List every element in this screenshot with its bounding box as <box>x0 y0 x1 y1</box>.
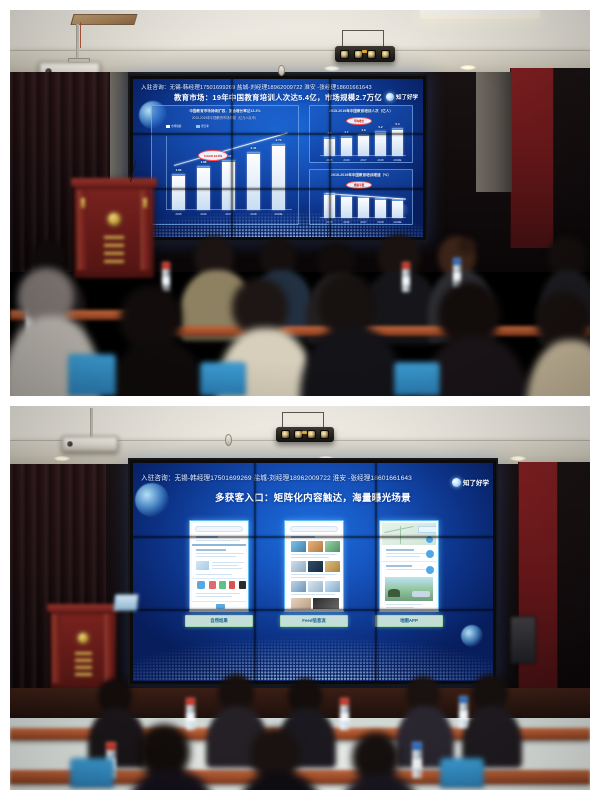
chart-y-axis <box>166 136 167 210</box>
projector-cable <box>80 22 81 48</box>
slide-headline: 多获客入口：矩阵化内容触达，海量曝光场景 <box>133 490 493 504</box>
ceiling-camera-icon <box>225 434 232 446</box>
podium-stripe <box>143 198 147 208</box>
panel-seam-vertical <box>329 79 331 237</box>
projector-lens-icon <box>67 441 73 447</box>
brand-name: 知了好学 <box>463 477 489 487</box>
ceiling-seam <box>10 50 590 51</box>
wall-dark-far-right <box>558 462 590 692</box>
photo-top: 入驻咨询：无锡-韩经理17501699269 盐城-刘经理18962009722… <box>10 10 590 396</box>
light-bar-hanger-top <box>282 412 324 413</box>
podium-stripe <box>75 666 92 669</box>
stage-lamp <box>307 430 316 439</box>
chart-annotation-badge: CAGR 13.3% <box>198 150 228 161</box>
chair <box>68 354 116 396</box>
slide-contact-line: 入驻咨询：无锡-韩经理17501699269 盐城-刘经理18962009722… <box>141 472 412 482</box>
water-bottle <box>340 698 349 730</box>
panel-seam-vertical <box>375 463 377 681</box>
water-bottle <box>412 742 422 778</box>
slide-dot-matrix <box>133 623 493 681</box>
podium-stripe <box>104 260 124 263</box>
video-wall-screen-top: 入驻咨询：无锡-韩经理17501699269 盐城-刘经理18962009722… <box>133 79 423 237</box>
ceiling-camera-icon <box>278 65 285 76</box>
app-icon <box>239 581 246 589</box>
chart-bar-value: 4.9 <box>355 128 372 132</box>
chart-title: 2015-2019年中国教育培训增速（%） <box>310 173 412 178</box>
stage-lamp <box>381 50 390 59</box>
podium-desktop <box>71 178 157 187</box>
screenshot-root: 入驻咨询：无锡-韩经理17501699269 盐城-刘经理18962009722… <box>0 0 600 800</box>
podium-stripe <box>104 244 124 247</box>
podium-stripe <box>104 252 124 255</box>
map-action-icon[interactable] <box>426 566 434 574</box>
projector-pole <box>90 408 93 438</box>
podium-desktop <box>47 604 118 612</box>
podium-emblem-icon <box>107 212 121 226</box>
app-icon <box>219 581 226 589</box>
podium-stripe <box>75 673 92 676</box>
chart-x-tick: 2016 <box>338 158 355 162</box>
podium-stripe <box>81 198 85 208</box>
chart-plot-area: 1.60 1.86 2.12 2.41 2.70 2015 2016 2017 … <box>166 136 292 210</box>
podium-stripe <box>75 659 92 662</box>
chart-bar-value: 1.60 <box>169 168 188 172</box>
chart-x-tick: 2018 <box>372 158 389 162</box>
video-wall-screen-bottom: 入驻咨询：无锡-韩经理17501699269 盐城-刘经理18962009722… <box>133 463 493 681</box>
downlight <box>54 456 70 461</box>
light-bar-hanger <box>323 412 324 428</box>
speaker-cabinet <box>510 616 536 664</box>
chart-bar-value: 2.41 <box>244 146 263 150</box>
brand-dot-icon <box>452 478 461 487</box>
app-icon <box>229 581 235 589</box>
chair <box>440 758 484 788</box>
podium-stripe <box>104 236 124 239</box>
water-bottle <box>459 696 468 728</box>
podium-side-column <box>105 614 113 683</box>
panel-seam-horizontal <box>133 609 493 611</box>
downlight <box>460 65 476 70</box>
brand-name: 知了好学 <box>396 93 418 101</box>
app-icon <box>197 581 205 589</box>
stage-lamp <box>320 430 329 439</box>
slide-headline: 教育市场：19年中国教育培训人次达5.4亿，市场规模2.7万亿 <box>133 92 423 103</box>
brand-dot-icon <box>386 93 394 101</box>
panel-seam-vertical <box>254 463 256 681</box>
chart-legend-item: 市场规模 <box>166 124 181 128</box>
chart-x-tick: 2019E <box>389 158 406 162</box>
panel-seam-horizontal <box>133 536 493 538</box>
stage-light-bar <box>276 427 334 442</box>
chart-bar-value: 2.70 <box>269 138 288 142</box>
phone-feed-stream[interactable] <box>284 520 344 612</box>
chart-title: 2015-2019年中国教育培训人次（亿人） <box>310 109 412 114</box>
chart-legend-item: 增长率 <box>196 124 209 128</box>
slide-contact-line: 入驻咨询：无锡-韩经理17501699269 盐城-刘经理18962009722… <box>141 83 372 91</box>
stage-light-indicator <box>362 50 367 53</box>
chart-subtitle: 2015-2019年中国教育市场规模（亿元人民币） <box>152 115 298 120</box>
podium-emblem-icon <box>77 632 89 644</box>
phone-search-bar[interactable] <box>290 526 338 532</box>
wall-dark-far-right <box>554 68 590 248</box>
podium-side-column <box>53 614 61 683</box>
chart-bar <box>272 144 285 210</box>
phone-search-bar[interactable] <box>195 526 243 532</box>
brand-logo: 知了好学 <box>386 93 418 101</box>
chair <box>200 362 246 396</box>
map-action-icon[interactable] <box>426 550 434 558</box>
chart-bar-value: 5.2 <box>372 125 389 129</box>
panel-seam-vertical <box>231 79 233 237</box>
chart-title: 中国教育市场持续扩容，复合增长率达13.3% <box>152 109 298 114</box>
chair <box>394 362 440 396</box>
phone-map-app[interactable] <box>379 520 439 612</box>
podium-bottom-photo <box>50 604 116 690</box>
slide-dot-matrix <box>133 203 423 237</box>
video-wall-bottom[interactable]: 入驻咨询：无锡-韩经理17501699269 盐城-刘经理18962009722… <box>128 458 498 686</box>
stage-lamp <box>367 50 376 59</box>
wall-column-right <box>476 72 512 192</box>
water-bottle <box>186 698 195 730</box>
chart-x-tick: 2017 <box>355 158 372 162</box>
water-bottle <box>162 262 170 292</box>
stage-light-indicator <box>302 431 307 434</box>
light-bar-hanger-top <box>342 30 384 31</box>
chart-bar <box>341 136 352 156</box>
projector-pole <box>76 24 79 60</box>
light-bar-hanger <box>282 412 283 428</box>
wall-panel-red-right <box>510 68 554 248</box>
app-icon <box>209 581 216 589</box>
chart-annotation-badge: 年均增长 <box>346 117 372 125</box>
photo-bottom: 入驻咨询：无锡-韩经理17501699269 盐城-刘经理18962009722… <box>10 406 590 790</box>
ceiling-light-strip <box>420 10 540 19</box>
stage-lamp <box>281 430 290 439</box>
presenter-laptop <box>113 594 139 611</box>
video-wall-top[interactable]: 入驻咨询：无锡-韩经理17501699269 盐城-刘经理18962009722… <box>128 74 428 242</box>
chart-bar <box>358 134 369 156</box>
phone-organic-results[interactable] <box>189 520 249 612</box>
podium-top-photo <box>74 178 154 278</box>
chart-bar <box>247 152 260 210</box>
water-bottle <box>402 262 410 292</box>
chair <box>70 758 114 788</box>
stage-lamp <box>340 50 349 59</box>
stage-light-bar <box>335 46 395 62</box>
brand-logo: 知了好学 <box>452 477 489 487</box>
panel-seam-horizontal <box>133 133 423 135</box>
downlight <box>510 456 526 461</box>
downlight <box>324 66 340 71</box>
chart-bar-value: 5.4 <box>389 122 406 126</box>
panel-seam-horizontal <box>133 188 423 190</box>
chart-plot-area: 4.6 4.7 4.9 5.2 5.4 2015 2016 2017 2018 … <box>320 126 406 156</box>
podium-stripe <box>75 652 92 655</box>
